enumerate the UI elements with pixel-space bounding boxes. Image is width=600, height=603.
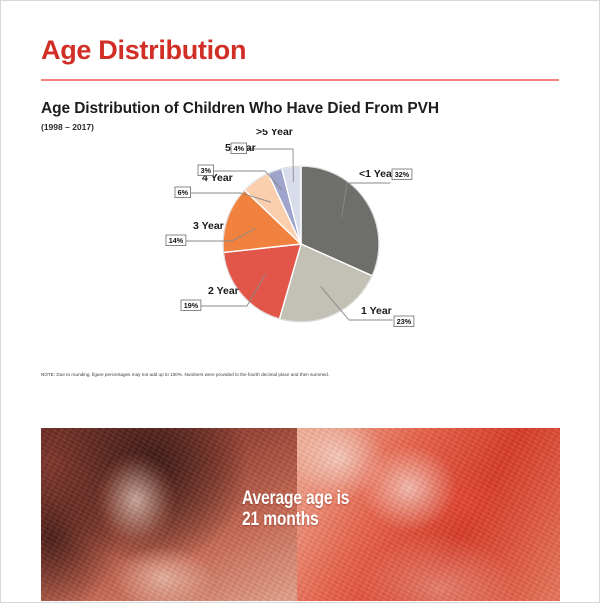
slice-percent-text: 4%	[234, 144, 245, 153]
page-title: Age Distribution	[41, 36, 246, 66]
slice-label-text: 1 Year	[361, 305, 392, 317]
pie-chart: <1 Year32%1 Year23%2 Year19%3 Year14%4 Y…	[41, 129, 559, 359]
slice-percent-text: 14%	[169, 236, 184, 245]
title-divider	[41, 79, 559, 81]
photo-banner: Average age is 21 months	[41, 428, 560, 601]
chart-heading: Age Distribution of Children Who Have Di…	[41, 100, 439, 118]
photo-caption: Average age is 21 months	[242, 488, 349, 531]
infographic-page: Age Distribution Age Distribution of Chi…	[0, 0, 600, 603]
slice-label-text: >5 Year	[256, 129, 293, 138]
slice-label-text: 3 Year	[193, 220, 224, 232]
pie-slices	[223, 166, 379, 322]
slice-percent-text: 23%	[397, 317, 412, 326]
slice-percent-text: 3%	[201, 166, 212, 175]
slice-percent-text: 19%	[184, 301, 199, 310]
pie-chart-svg: <1 Year32%1 Year23%2 Year19%3 Year14%4 Y…	[41, 129, 559, 359]
slice-percent-text: 32%	[395, 170, 410, 179]
chart-note: NOTE: Due to rounding, figure percentage…	[41, 372, 561, 378]
slice-percent-text: 6%	[178, 188, 189, 197]
slice-label-text: <1 Year	[359, 168, 396, 180]
slice-label-text: 2 Year	[208, 285, 239, 297]
